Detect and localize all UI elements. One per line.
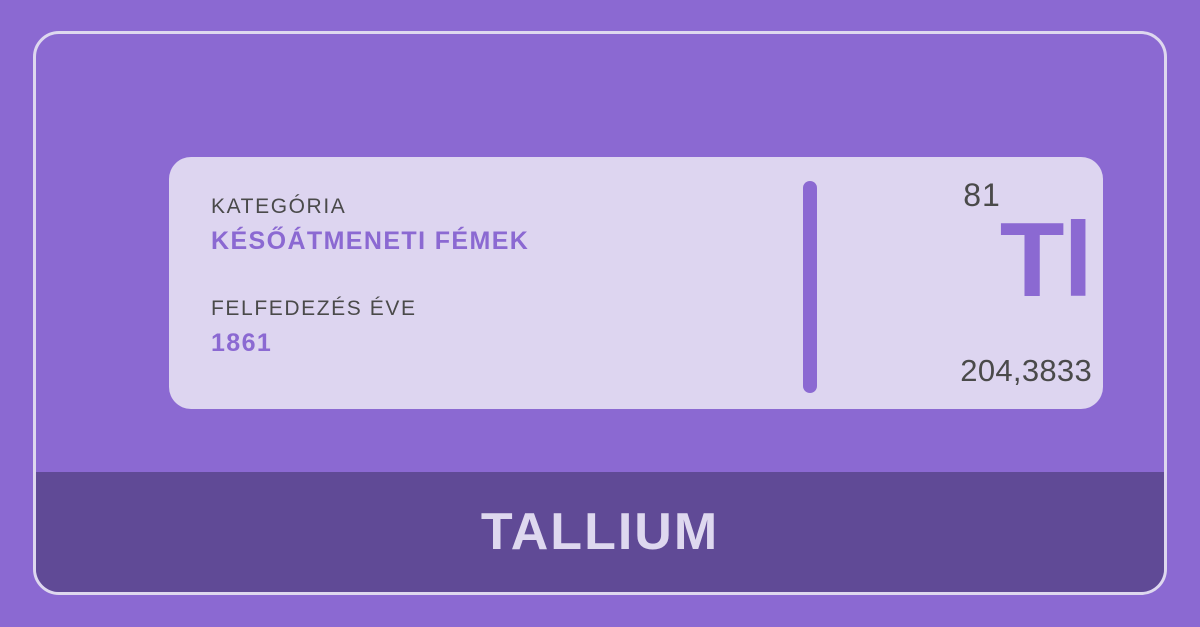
atomic-mass: 204,3833 — [769, 353, 1092, 389]
category-value: KÉSŐÁTMENETI FÉMEK — [211, 227, 771, 256]
discovery-year-value: 1861 — [211, 329, 771, 358]
element-name: TALLIUM — [481, 502, 719, 562]
property-category: KATEGÓRIA KÉSŐÁTMENETI FÉMEK — [211, 195, 771, 256]
element-symbol: Tl — [809, 207, 1092, 313]
discovery-year-label: FELFEDEZÉS ÉVE — [211, 297, 771, 321]
element-details-card: KATEGÓRIA KÉSŐÁTMENETI FÉMEK FELFEDEZÉS … — [169, 157, 1103, 409]
property-discovery-year: FELFEDEZÉS ÉVE 1861 — [211, 297, 771, 358]
element-info-card-page: KATEGÓRIA KÉSŐÁTMENETI FÉMEK FELFEDEZÉS … — [0, 0, 1200, 627]
element-name-bar: TALLIUM — [36, 472, 1164, 592]
element-properties-list: KATEGÓRIA KÉSŐÁTMENETI FÉMEK FELFEDEZÉS … — [211, 195, 771, 358]
category-label: KATEGÓRIA — [211, 195, 771, 219]
outer-frame: KATEGÓRIA KÉSŐÁTMENETI FÉMEK FELFEDEZÉS … — [33, 31, 1167, 595]
